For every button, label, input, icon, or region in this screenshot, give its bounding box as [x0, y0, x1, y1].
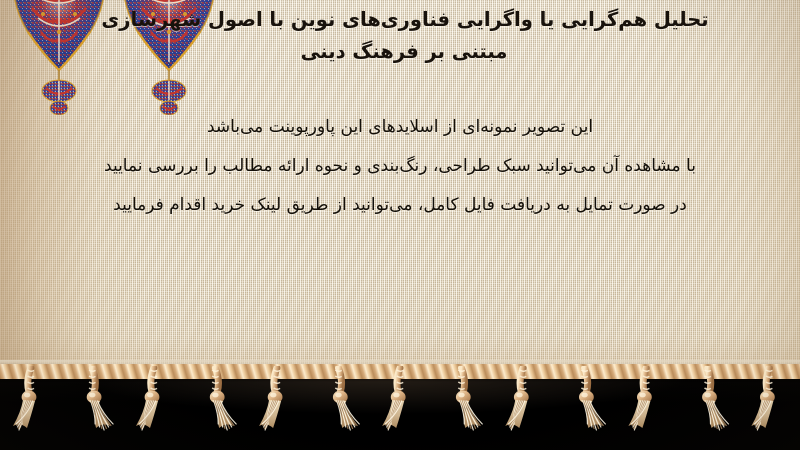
body-line-1: این تصویر نمونه‌ای از اسلایدهای این پاور… [14, 108, 786, 147]
slide-title-line-2: مبتنی بر فرهنگ دینی [80, 36, 730, 68]
presentation-slide: تحلیل هم‌گرایی یا واگرایی فناوری‌های نوی… [0, 0, 800, 450]
slide-title: تحلیل هم‌گرایی یا واگرایی فناوری‌های نوی… [80, 4, 730, 67]
rope-core [0, 364, 800, 379]
slide-body: این تصویر نمونه‌ای از اسلایدهای این پاور… [14, 108, 786, 224]
body-line-2: با مشاهده آن می‌توانید سبک طراحی، رنگ‌بن… [14, 147, 786, 186]
black-footer-panel [0, 372, 800, 450]
body-line-3: در صورت تمایل به دریافت فایل کامل، می‌تو… [14, 186, 786, 225]
slide-title-line-1: تحلیل هم‌گرایی یا واگرایی فناوری‌های نوی… [80, 4, 730, 36]
rope-border [0, 360, 800, 382]
